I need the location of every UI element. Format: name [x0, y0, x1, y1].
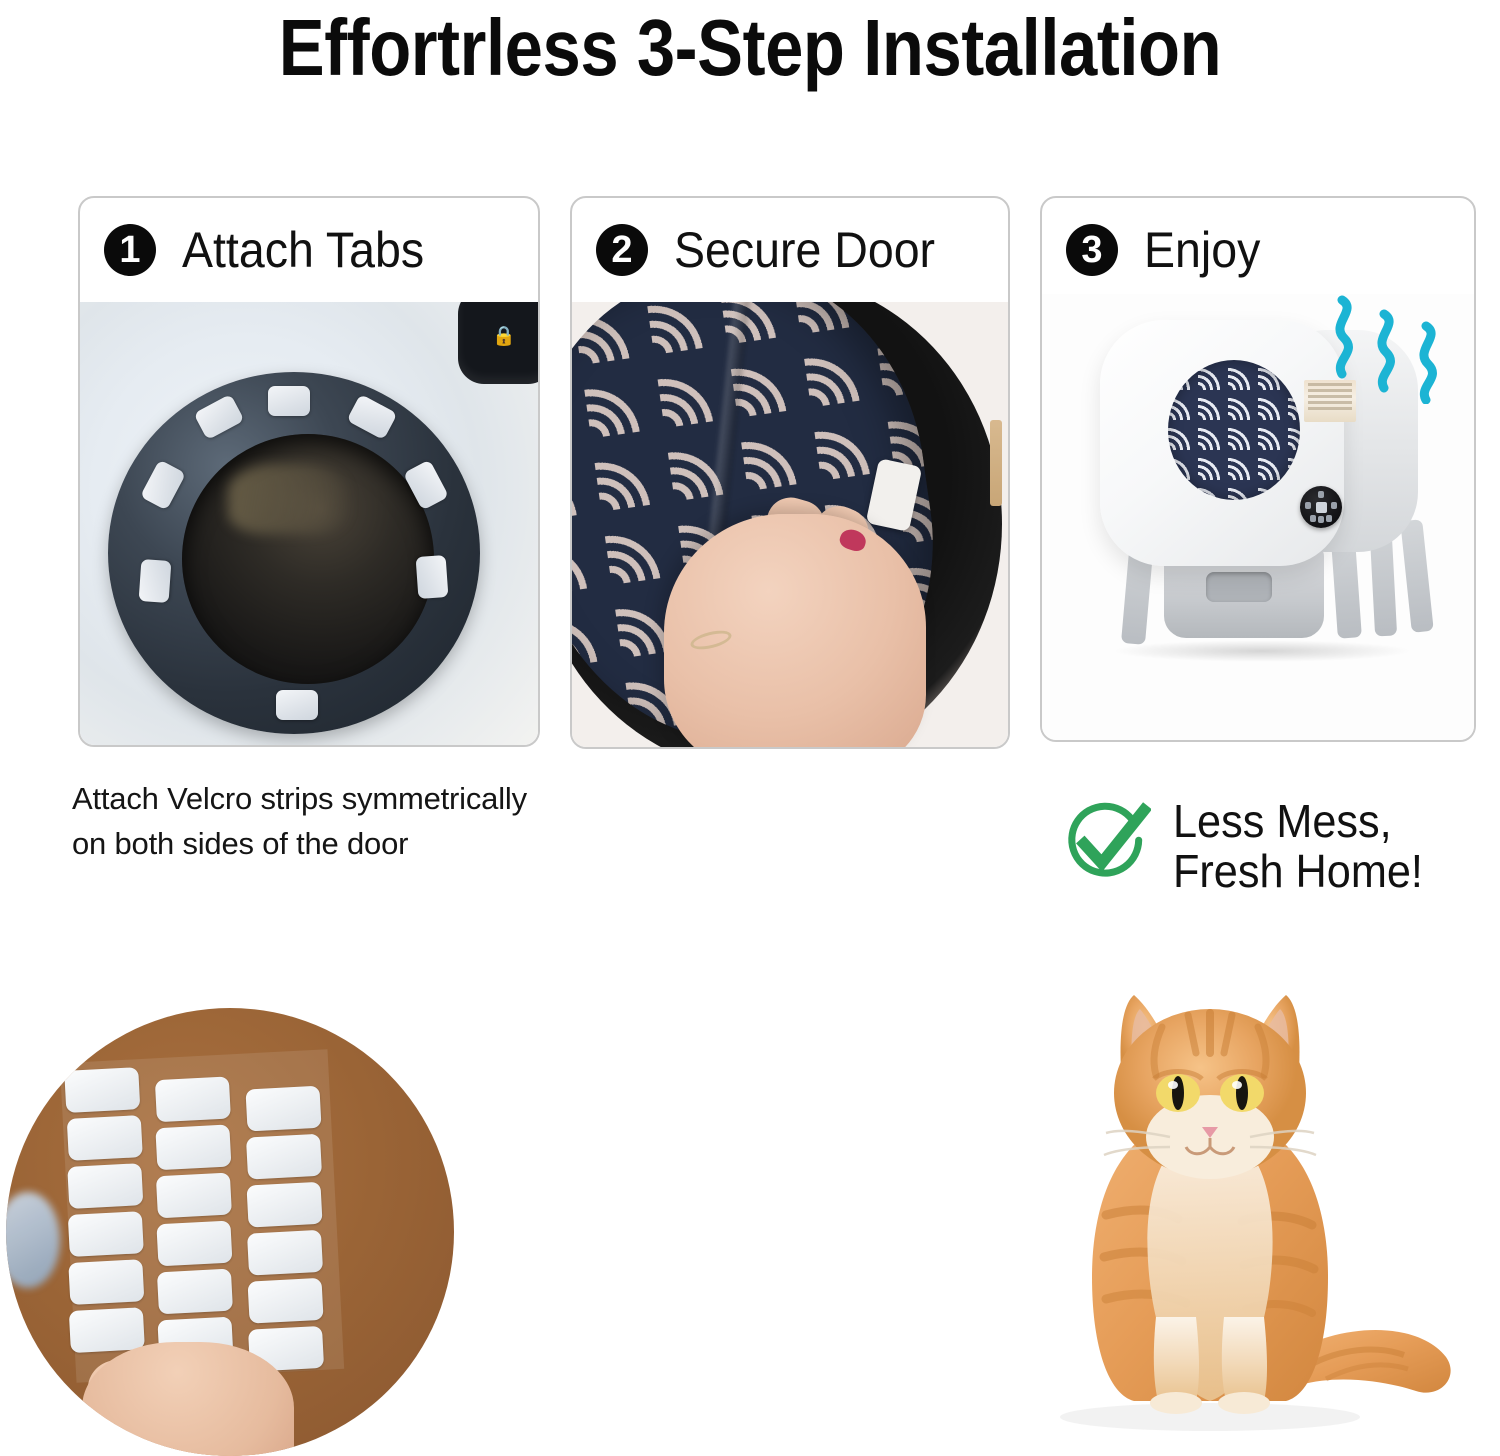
cabinet-edge — [990, 420, 1002, 506]
background-blur-object — [6, 1192, 60, 1288]
label-line — [1308, 407, 1352, 410]
benefit-text: Less Mess, Fresh Home! — [1173, 796, 1423, 896]
step-badge-2: 2 — [596, 224, 648, 276]
litter-box-leg — [1400, 519, 1434, 633]
step-card-2: 2 Secure Door — [570, 196, 1010, 749]
control-panel-button — [1318, 491, 1324, 498]
litter-box-front-with-velcro-tabs-photo: 🔒 — [80, 302, 538, 747]
benefit-line-2: Fresh Home! — [1173, 846, 1423, 896]
steam-squiggles — [1328, 294, 1458, 404]
control-panel-button — [1326, 515, 1332, 522]
orange-tabby-cat-photo — [1010, 965, 1470, 1445]
hand — [664, 514, 926, 747]
step-3-header: 3 Enjoy — [1042, 198, 1474, 302]
cat-front-leg — [1222, 1317, 1267, 1401]
control-panel-icon[interactable] — [1300, 486, 1342, 528]
cat-paw — [1150, 1392, 1202, 1414]
cat-shadow — [1060, 1403, 1360, 1431]
hand-securing-fabric-door-photo — [572, 302, 1008, 747]
step-1-header: 1 Attach Tabs — [80, 198, 538, 302]
step-2-header: 2 Secure Door — [572, 198, 1008, 302]
steam-squiggle-icon — [1382, 314, 1391, 388]
step-title-1: Attach Tabs — [182, 224, 424, 276]
step-badge-3: 3 — [1066, 224, 1118, 276]
velcro-tab — [276, 690, 318, 720]
page-title: Effortrless 3-Step Installation — [105, 2, 1395, 94]
caption-line-1: Attach Velcro strips symmetrically — [72, 776, 692, 821]
installation-caption: Attach Velcro strips symmetrically on bo… — [72, 776, 692, 866]
velcro-tab — [139, 559, 172, 603]
cat-front-leg — [1154, 1317, 1199, 1401]
velcro-tab — [140, 459, 186, 510]
step-card-3: 3 Enjoy — [1040, 196, 1476, 742]
lock-icon: 🔒 — [492, 326, 510, 348]
floor-shadow — [1112, 640, 1412, 662]
control-panel-display — [1316, 502, 1327, 513]
control-panel-button — [1331, 502, 1337, 509]
assembled-litter-box-photo — [1042, 294, 1474, 740]
hand — [82, 1342, 294, 1456]
caption-line-2: on both sides of the door — [72, 821, 692, 866]
velcro-tab — [268, 386, 310, 416]
velcro-tab — [193, 394, 244, 440]
litter-box-entry-ring — [108, 372, 480, 734]
benefit-badge: Less Mess, Fresh Home! — [1063, 796, 1483, 896]
step-card-1: 🔒 1 Attach Tabs — [78, 196, 540, 747]
drawer-handle — [1206, 572, 1272, 602]
control-panel-button — [1305, 502, 1311, 509]
steps-row: 🔒 1 Attach Tabs 2 Secure Door — [0, 196, 1500, 752]
velcro-tab — [416, 555, 449, 599]
benefit-line-1: Less Mess, — [1173, 796, 1423, 846]
velcro-tab-sheet-photo — [6, 1008, 454, 1456]
entry-hole-reflection — [228, 464, 348, 534]
control-panel-button — [1318, 516, 1324, 523]
control-panel-button — [1310, 515, 1316, 522]
velcro-sheet — [60, 1049, 344, 1383]
velcro-tab — [346, 394, 397, 440]
steam-squiggle-icon — [1340, 300, 1349, 374]
steam-squiggle-icon — [1424, 326, 1433, 400]
cat-paw — [1218, 1392, 1270, 1414]
circle-check-icon — [1063, 798, 1151, 886]
step-badge-1: 1 — [104, 224, 156, 276]
seigaiha-fabric-door — [1168, 360, 1300, 500]
step-title-3: Enjoy — [1144, 224, 1260, 276]
step-title-2: Secure Door — [674, 224, 935, 276]
